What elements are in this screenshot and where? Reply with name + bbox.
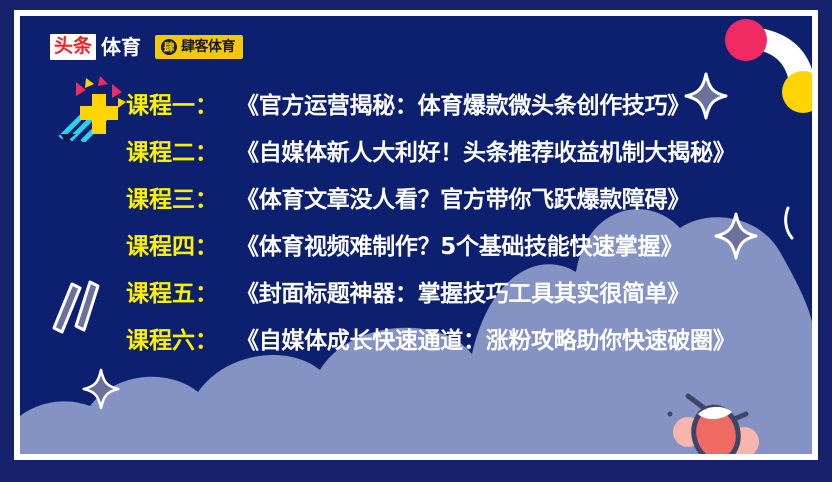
course-row: 课程五： 《封面标题神器：掌握技巧工具其实很简单》 (20, 274, 812, 321)
toutiao-wordmark: 头条 (50, 34, 96, 60)
toutiao-logo: 头条 体育 (50, 34, 141, 60)
course-list: 课程一： 《官方运营揭秘：体育爆款微头条创作技巧》 课程二： 《自媒体新人大利好… (20, 86, 812, 368)
course-label: 课程二： (126, 133, 218, 167)
course-label: 课程三： (126, 180, 218, 214)
partner-badge-label: 肆客体育 (181, 40, 235, 54)
course-title: 《官方运营揭秘：体育爆款微头条创作技巧》 (236, 86, 690, 120)
sparkle-icon (82, 368, 120, 410)
course-label: 课程五： (126, 274, 218, 308)
sike-circle-icon: 肆 (161, 39, 177, 55)
course-row: 课程三： 《体育文章没人看？官方带你飞跃爆款障碍》 (20, 180, 812, 227)
course-title: 《自媒体成长快速通道：涨粉攻略助你快速破圈》 (236, 321, 735, 355)
course-label: 课程六： (126, 321, 218, 355)
course-row: 课程二： 《自媒体新人大利好！头条推荐收益机制大揭秘》 (20, 133, 812, 180)
course-title: 《封面标题神器：掌握技巧工具其实很简单》 (236, 274, 690, 308)
course-label: 课程一： (126, 86, 218, 120)
poster-frame: 头条 体育 肆 肆客体育 课程一： 《官方运营揭秘：体育爆款微头条创作技巧》 课… (14, 10, 818, 460)
poster-root: 头条 体育 肆 肆客体育 课程一： 《官方运营揭秘：体育爆款微头条创作技巧》 课… (0, 0, 832, 482)
tongue-face-icon (660, 388, 780, 454)
course-row: 课程一： 《官方运营揭秘：体育爆款微头条创作技巧》 (20, 86, 812, 133)
course-row: 课程四： 《体育视频难制作？5个基础技能快速掌握》 (20, 227, 812, 274)
course-label: 课程四： (126, 227, 218, 261)
course-title: 《体育文章没人看？官方带你飞跃爆款障碍》 (236, 180, 690, 214)
partner-badge: 肆 肆客体育 (155, 35, 243, 59)
poster-stage: 头条 体育 肆 肆客体育 课程一： 《官方运营揭秘：体育爆款微头条创作技巧》 课… (20, 16, 812, 454)
brand-header: 头条 体育 肆 肆客体育 (50, 34, 243, 60)
toutiao-sports-label: 体育 (101, 37, 141, 57)
course-title: 《自媒体新人大利好！头条推荐收益机制大揭秘》 (236, 133, 735, 167)
course-title: 《体育视频难制作？5个基础技能快速掌握》 (236, 227, 683, 261)
course-row: 课程六： 《自媒体成长快速通道：涨粉攻略助你快速破圈》 (20, 321, 812, 368)
